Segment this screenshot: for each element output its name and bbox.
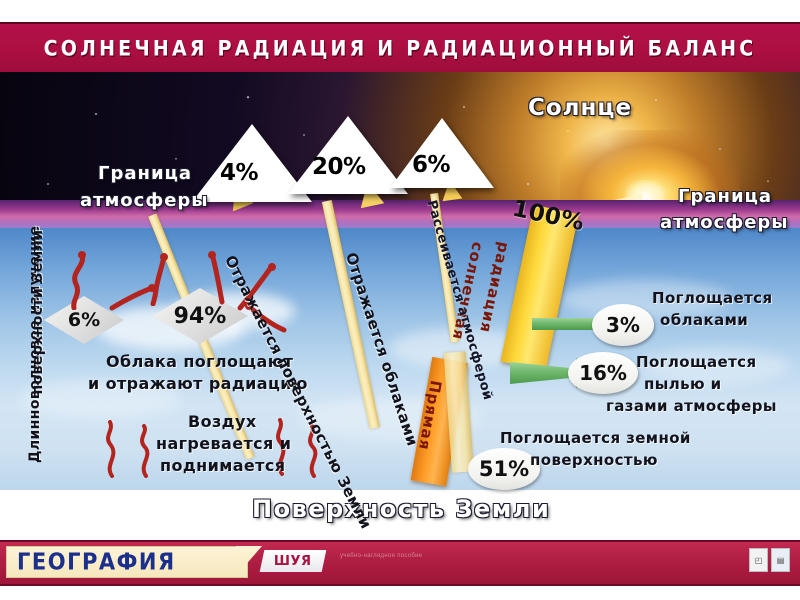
label-absorbed-clouds-1: Поглощается [652, 288, 772, 308]
label-absorbed-surface-2: поверхностью [530, 450, 658, 470]
label-air-heats-3: поднимается [160, 456, 285, 476]
badge-absorbed-clouds: 3% [592, 304, 654, 346]
value-absorbed-clouds: 3% [606, 313, 640, 337]
value-absorbed-dust: 16% [579, 361, 627, 385]
value-longwave-clouds: 94% [174, 304, 227, 329]
label-earth-surface: Поверхность Земли [252, 495, 550, 523]
subject-plate: ГЕОГРАФИЯ [6, 546, 248, 578]
label-absorbed-surface-1: Поглощается земной [500, 428, 691, 448]
page-title: СОЛНЕЧНАЯ РАДИАЦИЯ И РАДИАЦИОННЫЙ БАЛАНС [44, 37, 757, 62]
label-sun: Солнце [528, 95, 632, 121]
label-absorbed-dust-1: Поглощается [636, 352, 756, 372]
corner-logos: ◰ ▤ [749, 548, 790, 572]
label-absorbed-clouds-2: облаками [660, 310, 748, 330]
publisher-line: учебно-наглядное пособие [340, 552, 520, 570]
triangle-label-6: 6% [412, 152, 450, 178]
badge-absorbed-dust: 16% [568, 352, 638, 394]
label-absorbed-dust-3: газами атмосферы [606, 396, 777, 416]
triangle-label-20: 20% [312, 154, 366, 180]
publisher-logo: ШУЯ [260, 550, 327, 572]
corner-logo-icon: ▤ [771, 548, 790, 572]
poster-title-bar: СОЛНЕЧНАЯ РАДИАЦИЯ И РАДИАЦИОННЫЙ БАЛАНС [0, 22, 800, 75]
label-air-heats-1: Воздух [188, 412, 257, 432]
poster-root: СОЛНЕЧНАЯ РАДИАЦИЯ И РАДИАЦИОННЫЙ БАЛАНС [0, 0, 800, 600]
value-longwave-window: 6% [68, 309, 100, 331]
subject-label: ГЕОГРАФИЯ [17, 549, 176, 575]
label-atmosphere-boundary-left-2: атмосферы [80, 190, 209, 211]
label-longwave-line2: поверхности Земли [28, 212, 48, 412]
label-atmosphere-boundary-left-1: Граница [98, 163, 192, 184]
heat-squiggle-icon [100, 420, 124, 478]
publisher-logo-label: ШУЯ [274, 554, 312, 569]
label-clouds-absorb-1: Облака поглощают [106, 352, 293, 372]
heat-squiggle-icon [134, 424, 158, 478]
heat-squiggle-icon [56, 250, 96, 310]
label-atmosphere-boundary-right-1: Граница [678, 186, 772, 207]
label-clouds-absorb-2: и отражают радиацию [88, 374, 308, 394]
label-absorbed-dust-2: пылью и [644, 374, 722, 394]
value-absorbed-surface: 51% [479, 457, 529, 481]
label-atmosphere-boundary-right-2: атмосферы [660, 212, 789, 233]
heat-squiggle-icon [108, 282, 156, 316]
corner-logo-icon: ◰ [749, 548, 768, 572]
label-air-heats-2: нагревается и [156, 434, 291, 454]
triangle-label-4: 4% [220, 160, 258, 186]
